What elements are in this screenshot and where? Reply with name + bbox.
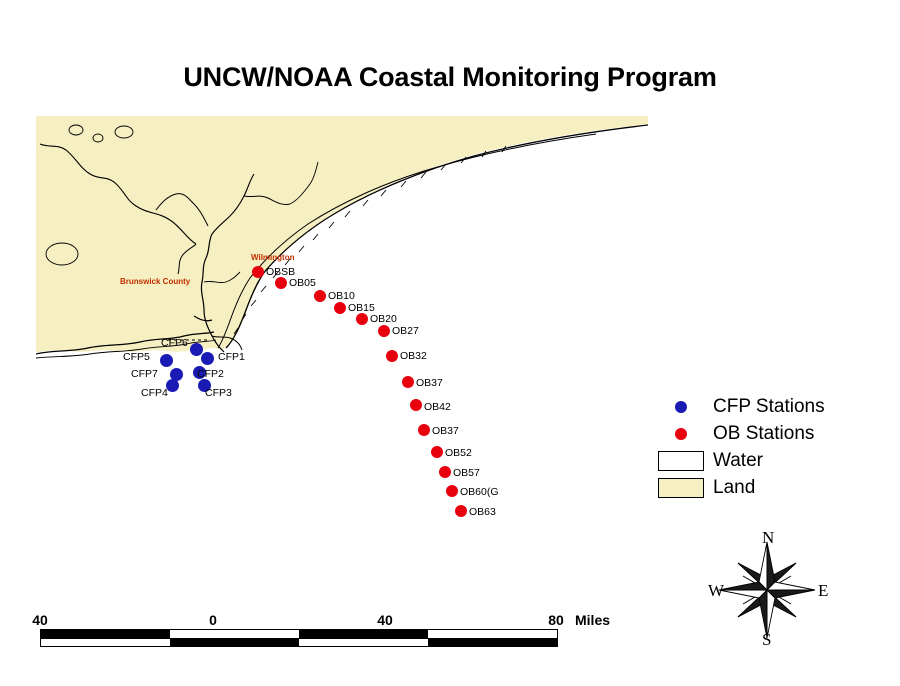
ob-station-dot[interactable] — [446, 485, 458, 497]
legend-label: Water — [707, 450, 763, 472]
ob-station-label: OB37 — [416, 378, 443, 389]
compass-west-label: W — [708, 581, 724, 601]
cfp-station-label: CFP6 — [161, 338, 188, 349]
ob-station-label: OB10 — [328, 291, 355, 302]
scale-bar: 40 0 40 80 Miles — [40, 612, 620, 647]
ob-station-label: OB57 — [453, 468, 480, 479]
legend: CFP Stations OB Stations Water Land — [655, 393, 885, 501]
legend-swatch-wrap — [655, 401, 707, 413]
scale-segment — [41, 630, 170, 638]
legend-swatch-wrap — [655, 451, 707, 471]
ob-station-dot[interactable] — [386, 350, 398, 362]
ob-station-dot[interactable] — [402, 376, 414, 388]
ob-station-label: OBSB — [266, 267, 295, 278]
ob-station-label: OB37 — [432, 426, 459, 437]
scale-segment — [170, 630, 299, 638]
scale-segment — [170, 639, 299, 646]
ob-station-dot[interactable] — [439, 466, 451, 478]
legend-item-ob-stations[interactable]: OB Stations — [655, 420, 885, 447]
legend-swatch-wrap — [655, 478, 707, 498]
scale-tick-label: 40 — [377, 612, 393, 628]
scale-bar-labels: 40 0 40 80 Miles — [40, 612, 620, 629]
scale-segment — [299, 639, 428, 646]
blue-dot-icon — [675, 401, 687, 413]
scale-segment — [428, 630, 557, 638]
water-swatch-icon — [658, 451, 704, 471]
compass-rose: N E S W — [700, 528, 835, 653]
compass-south-label: S — [762, 630, 771, 650]
legend-item-land[interactable]: Land — [655, 474, 885, 501]
map-graphic — [36, 116, 648, 378]
ob-station-dot[interactable] — [410, 399, 422, 411]
legend-item-cfp-stations[interactable]: CFP Stations — [655, 393, 885, 420]
ob-station-label: OB52 — [445, 448, 472, 459]
ob-station-dot[interactable] — [252, 266, 264, 278]
map-place-label-brunswick-county: Brunswick County — [120, 278, 190, 286]
cfp-station-dot[interactable] — [201, 352, 214, 365]
ob-station-dot[interactable] — [275, 277, 287, 289]
page-title: UNCW/NOAA Coastal Monitoring Program — [0, 62, 900, 93]
legend-swatch-wrap — [655, 428, 707, 440]
ob-station-label: OB60(G — [460, 487, 499, 498]
ob-station-dot[interactable] — [314, 290, 326, 302]
ob-station-dot[interactable] — [356, 313, 368, 325]
ob-station-label: OB15 — [348, 303, 375, 314]
ob-station-label: OB05 — [289, 278, 316, 289]
legend-label: OB Stations — [707, 423, 814, 445]
cfp-station-label: CFP2 — [197, 369, 224, 380]
scale-tick-label: 0 — [209, 612, 217, 628]
scale-tick-label: 80 — [548, 612, 564, 628]
compass-east-label: E — [818, 581, 828, 601]
cfp-station-dot[interactable] — [160, 354, 173, 367]
ob-station-label: OB32 — [400, 351, 427, 362]
red-dot-icon — [675, 428, 687, 440]
ob-station-label: OB27 — [392, 326, 419, 337]
compass-north-label: N — [762, 528, 774, 548]
scale-tick-label: 40 — [32, 612, 48, 628]
ob-station-label: OB20 — [370, 314, 397, 325]
ob-station-label: OB63 — [469, 507, 496, 518]
ob-station-dot[interactable] — [334, 302, 346, 314]
scale-segment — [41, 639, 170, 646]
scale-segment — [428, 639, 557, 646]
legend-label: Land — [707, 477, 755, 499]
ob-station-label: OB42 — [424, 402, 451, 413]
scale-units-label: Miles — [575, 612, 610, 628]
map-place-label-wilmington: Wilmington — [251, 254, 294, 262]
ob-station-dot[interactable] — [431, 446, 443, 458]
cfp-station-label: CFP4 — [141, 388, 168, 399]
ob-station-dot[interactable] — [378, 325, 390, 337]
ob-station-dot[interactable] — [455, 505, 467, 517]
cfp-station-label: CFP7 — [131, 369, 158, 380]
cfp-station-label: CFP3 — [205, 388, 232, 399]
scale-bar-row-bottom — [40, 638, 558, 647]
legend-label: CFP Stations — [707, 396, 825, 418]
land-swatch-icon — [658, 478, 704, 498]
cfp-station-label: CFP1 — [218, 352, 245, 363]
scale-bar-row-top — [40, 629, 558, 638]
ob-station-dot[interactable] — [418, 424, 430, 436]
map-panel[interactable]: Wilmington Brunswick County — [36, 116, 648, 378]
scale-segment — [299, 630, 428, 638]
legend-item-water[interactable]: Water — [655, 447, 885, 474]
cfp-station-label: CFP5 — [123, 352, 150, 363]
